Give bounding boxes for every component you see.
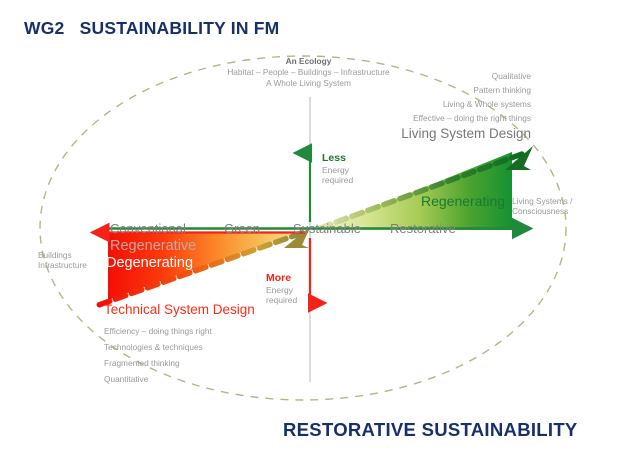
more-energy-sub-2: required xyxy=(266,295,297,306)
slide-canvas: WG2 SUSTAINABILITY IN FM RESTORATIVE SUS… xyxy=(0,0,617,457)
living-systems-line-2: Consciousness xyxy=(512,206,572,216)
living-system-design-title: Living System Design xyxy=(401,126,531,141)
living-systems-consciousness-note: Living Systems / Consciousness xyxy=(512,196,572,216)
living-system-line-1: Qualitative xyxy=(492,71,531,81)
technical-system-line-1: Efficiency – doing things right xyxy=(104,326,212,336)
buildings-infrastructure-note: Buildings Infrastructure xyxy=(38,250,87,270)
living-system-line-2: Pattern thinking xyxy=(473,85,531,95)
ecology-heading: An Ecology xyxy=(0,56,617,66)
degenerating-label: Degenerating xyxy=(106,255,193,271)
technical-system-line-3: Fragmented thinking xyxy=(104,358,180,368)
living-system-line-4: Effective – doing the right things xyxy=(413,113,531,123)
more-energy-sub-1: Energy xyxy=(266,285,293,296)
technical-system-design-title: Technical System Design xyxy=(104,302,255,317)
axis-label-green: Green xyxy=(224,221,260,236)
regenerative-label: Regenerative xyxy=(110,238,196,254)
buildings-infrastructure-line-1: Buildings xyxy=(38,250,87,260)
living-system-line-3: Living & Whole systems xyxy=(443,99,531,109)
more-energy-heading: More xyxy=(266,272,291,284)
less-energy-sub-2: required xyxy=(322,175,353,186)
axis-label-restorative: Restorative xyxy=(390,221,456,236)
axis-label-sustainable: Sustainable xyxy=(293,221,361,236)
technical-system-line-2: Technologies & techniques xyxy=(104,342,203,352)
buildings-infrastructure-line-2: Infrastructure xyxy=(38,260,87,270)
regenerating-label: Regenerating xyxy=(421,193,505,209)
living-systems-line-1: Living Systems / xyxy=(512,196,572,206)
less-energy-heading: Less xyxy=(322,152,346,164)
technical-system-line-4: Quantitative xyxy=(104,374,148,384)
axis-label-conventional: Conventional xyxy=(110,221,186,236)
less-energy-sub-1: Energy xyxy=(322,165,349,176)
